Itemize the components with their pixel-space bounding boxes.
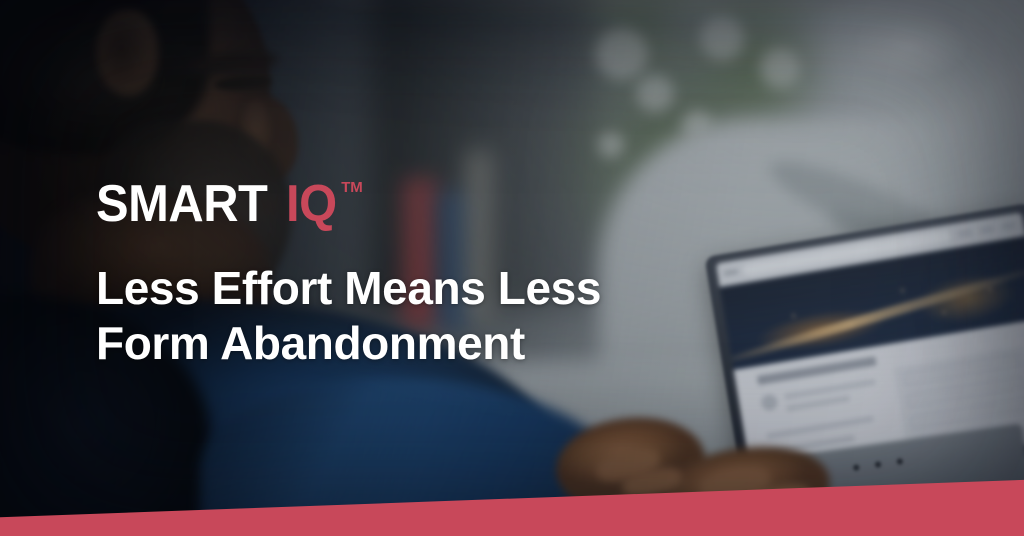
- headline-line-1: Less Effort Means Less: [96, 261, 716, 316]
- headline-line-2: Form Abandonment: [96, 316, 716, 371]
- logo-word-smart: SMART: [96, 178, 267, 230]
- marketing-banner: SMART IQ TM Less Effort Means Less Form …: [0, 0, 1024, 536]
- page-title: Less Effort Means Less Form Abandonment: [96, 261, 716, 370]
- banner-content: SMART IQ TM Less Effort Means Less Form …: [96, 178, 736, 401]
- trademark-icon: TM: [341, 180, 362, 195]
- smartiq-logo[interactable]: SMART IQ TM: [96, 178, 736, 230]
- logo-word-iq: IQ: [286, 178, 337, 230]
